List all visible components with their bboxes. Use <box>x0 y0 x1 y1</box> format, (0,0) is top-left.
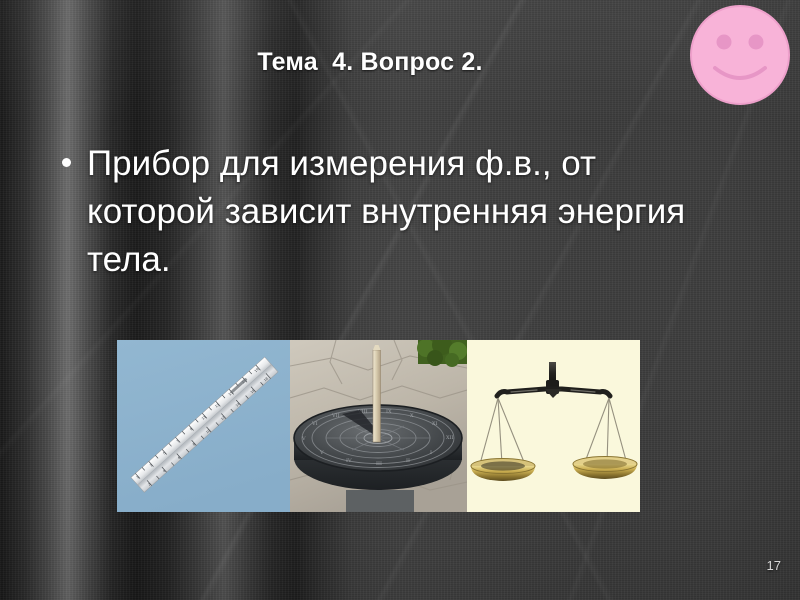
smiley-face-icon <box>689 4 791 106</box>
slide-canvas: Тема 4. Вопрос 2. Прибор для измерения ф… <box>0 0 800 600</box>
sundial-photo: V VI VII VIII IX X XI XII I II III IV V <box>290 340 467 512</box>
svg-text:IX: IX <box>386 409 392 415</box>
svg-text:III: III <box>376 461 382 467</box>
bullet-list: Прибор для измерения ф.в., от которой за… <box>62 140 702 284</box>
svg-text:IV: IV <box>346 458 352 464</box>
image-strip: 13 57 911 1315 1719 24 68 1012 1416 18 <box>117 340 640 512</box>
svg-text:I: I <box>430 450 432 456</box>
page-number: 17 <box>767 558 781 573</box>
svg-text:VII: VII <box>331 413 340 419</box>
svg-text:II: II <box>406 458 410 464</box>
svg-text:X: X <box>410 413 414 419</box>
balance-scales-photo <box>467 340 640 512</box>
svg-text:V: V <box>301 436 306 442</box>
svg-text:VI: VI <box>311 421 318 427</box>
svg-text:XII: XII <box>446 435 454 441</box>
slide-title: Тема 4. Вопрос 2. <box>60 48 680 77</box>
bullet-item-text: Прибор для измерения ф.в., от которой за… <box>87 140 702 284</box>
ruler-photo: 13 57 911 1315 1719 24 68 1012 1416 18 <box>117 340 290 512</box>
svg-text:XI: XI <box>432 421 438 427</box>
bullet-marker-icon <box>62 158 71 167</box>
svg-text:V: V <box>319 450 324 456</box>
